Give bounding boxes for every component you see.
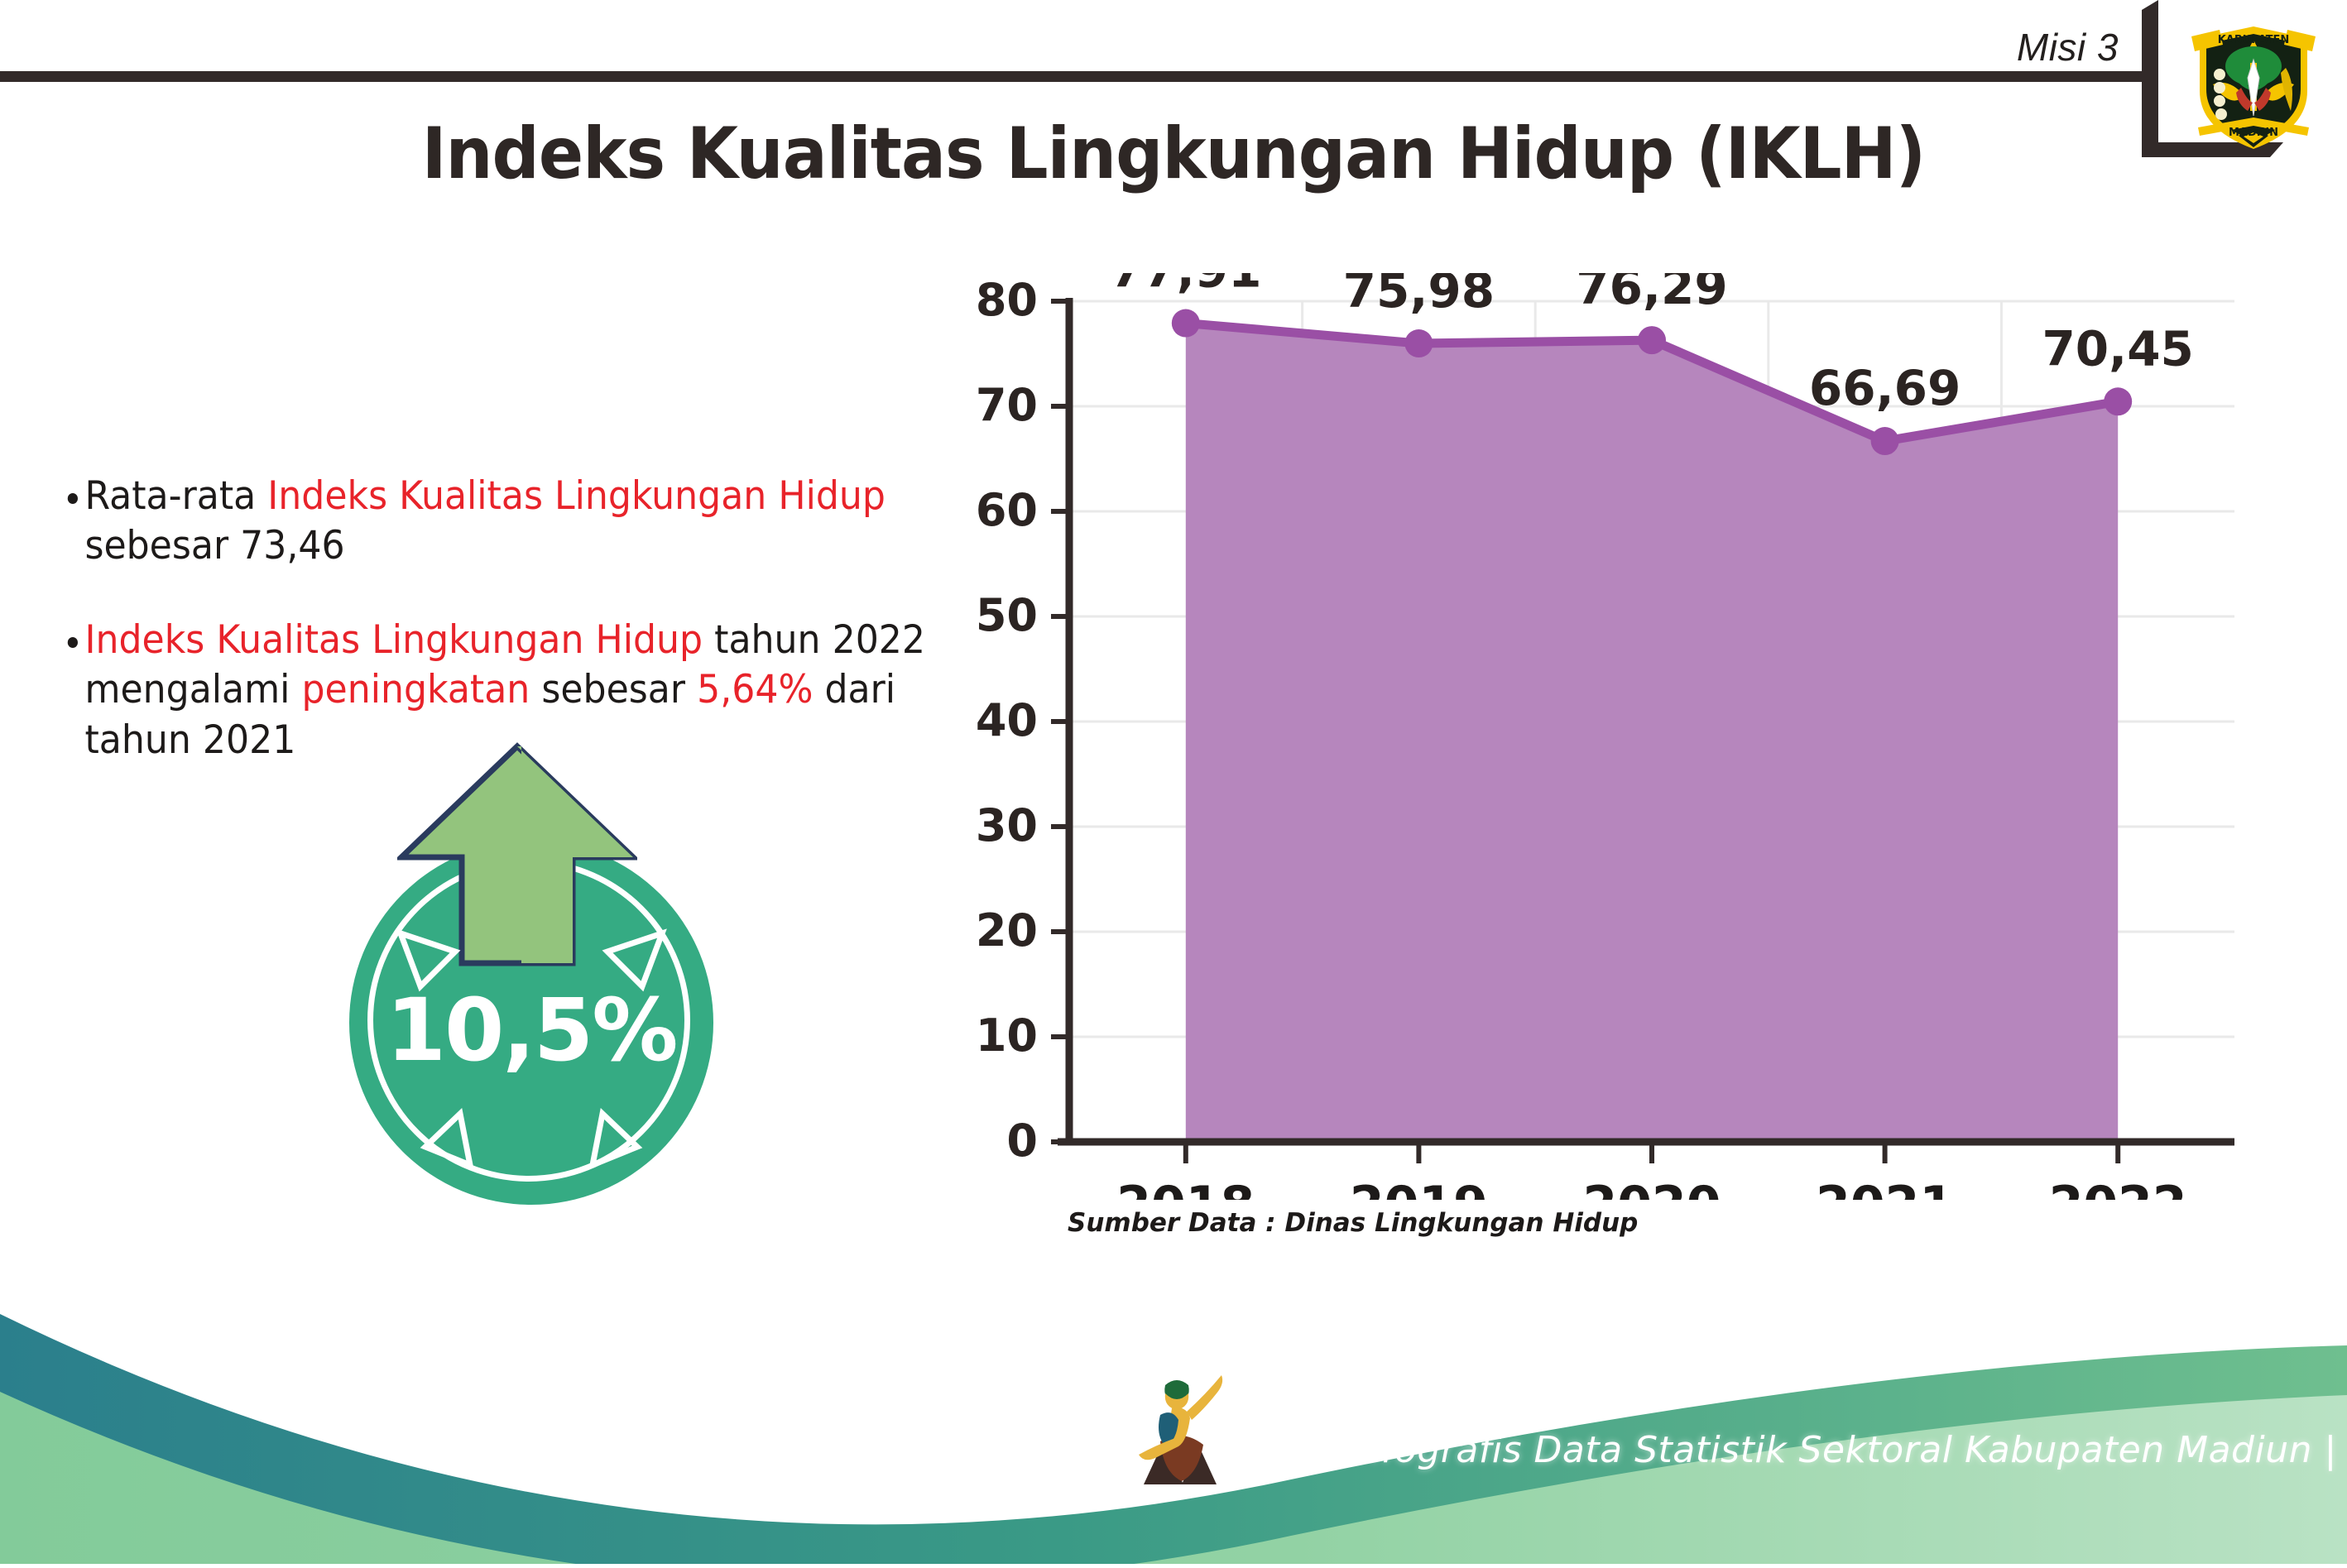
x-tick-label: 2020 xyxy=(1583,1176,1721,1200)
data-point-marker xyxy=(1172,309,1200,338)
logo-top-text: KABUPATEN xyxy=(2218,34,2290,46)
bullet-text-run: sebesar 73,46 xyxy=(84,523,344,568)
y-tick-label: 20 xyxy=(976,904,1038,957)
x-tick-label: 2022 xyxy=(2049,1176,2187,1200)
y-tick-label: 10 xyxy=(976,1009,1038,1062)
y-tick-label: 80 xyxy=(976,274,1038,326)
bullet-text-run: 5,64% xyxy=(697,667,813,712)
bullet-text-run: sebesar xyxy=(530,667,697,712)
badge-value: 10,5% xyxy=(349,980,713,1081)
data-point-marker xyxy=(1871,427,1899,455)
y-tick-label: 40 xyxy=(976,694,1038,746)
iklh-area-chart: 010203040506070802018201920202021202277,… xyxy=(968,273,2292,1200)
data-point-label: 70,45 xyxy=(2042,320,2193,376)
increase-badge: 10,5% xyxy=(324,741,771,1205)
mission-label: Misi 3 xyxy=(2017,25,2119,70)
bullet-text-run: Indeks Kualitas Lingkungan Hidup xyxy=(267,473,886,519)
header-rule xyxy=(0,71,2152,82)
dancer-logo-icon xyxy=(1135,1362,1226,1486)
data-point-label: 66,69 xyxy=(1809,360,1961,416)
source-note: Sumber Data : Dinas Lingkungan Hidup xyxy=(1068,1208,1638,1238)
bullet-text-run: peningkatan xyxy=(301,667,530,712)
data-point-label: 76,29 xyxy=(1576,273,1727,315)
y-tick-label: 0 xyxy=(1006,1115,1038,1167)
data-point-label: 75,98 xyxy=(1343,273,1495,319)
bullet-text-run: Indeks Kualitas Lingkungan Hidup xyxy=(84,617,703,663)
y-tick-label: 70 xyxy=(976,379,1038,431)
y-tick-label: 50 xyxy=(976,589,1038,641)
x-tick-label: 2019 xyxy=(1350,1176,1488,1200)
y-tick-label: 60 xyxy=(976,484,1038,536)
y-tick-label: 30 xyxy=(976,799,1038,851)
x-tick-label: 2018 xyxy=(1116,1176,1255,1200)
data-point-marker xyxy=(1638,326,1666,354)
page-title: Indeks Kualitas Lingkungan Hidup (IKLH) xyxy=(82,113,2264,195)
data-point-marker xyxy=(2104,387,2132,415)
area-fill xyxy=(1186,324,2118,1142)
footer-caption: Media Infografis Data Statistik Sektoral… xyxy=(1223,1429,2337,1471)
bullet-text-run: Rata-rata xyxy=(84,473,267,519)
x-tick-label: 2021 xyxy=(1816,1176,1954,1200)
data-point-marker xyxy=(1404,329,1433,357)
list-item: Rata-rata Indeks Kualitas Lingkungan Hid… xyxy=(65,472,936,571)
data-point-label: 77,91 xyxy=(1110,273,1261,299)
infographic-slide: Misi 3 KABUPATEN MADIUN xyxy=(0,0,2347,1564)
